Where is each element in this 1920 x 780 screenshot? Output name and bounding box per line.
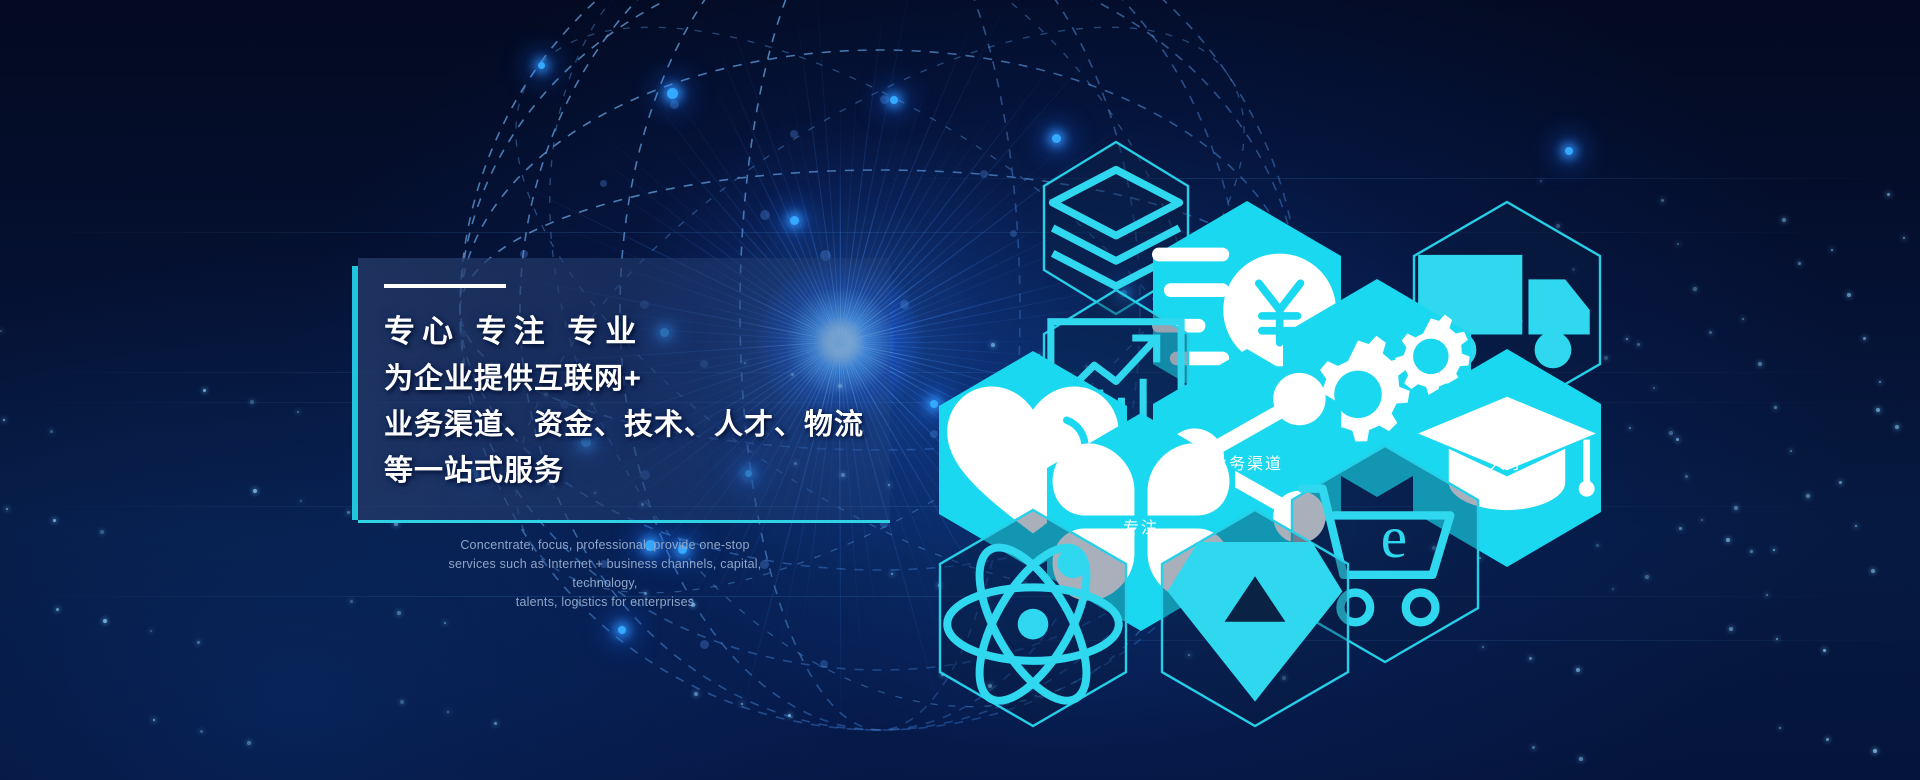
hexagon-cluster: 资金 物流 xyxy=(0,0,1920,780)
svg-text:e: e xyxy=(1381,504,1407,570)
atom-icon xyxy=(938,508,1128,728)
diamond-icon xyxy=(1160,508,1350,728)
hexagon-pro[interactable]: 专业 xyxy=(1160,508,1350,728)
hero-banner: 专心 专注 专业 为企业提供互联网+ 业务渠道、资金、技术、人才、物流 等一站式… xyxy=(0,0,1920,780)
hexagon-atom[interactable] xyxy=(938,508,1128,728)
